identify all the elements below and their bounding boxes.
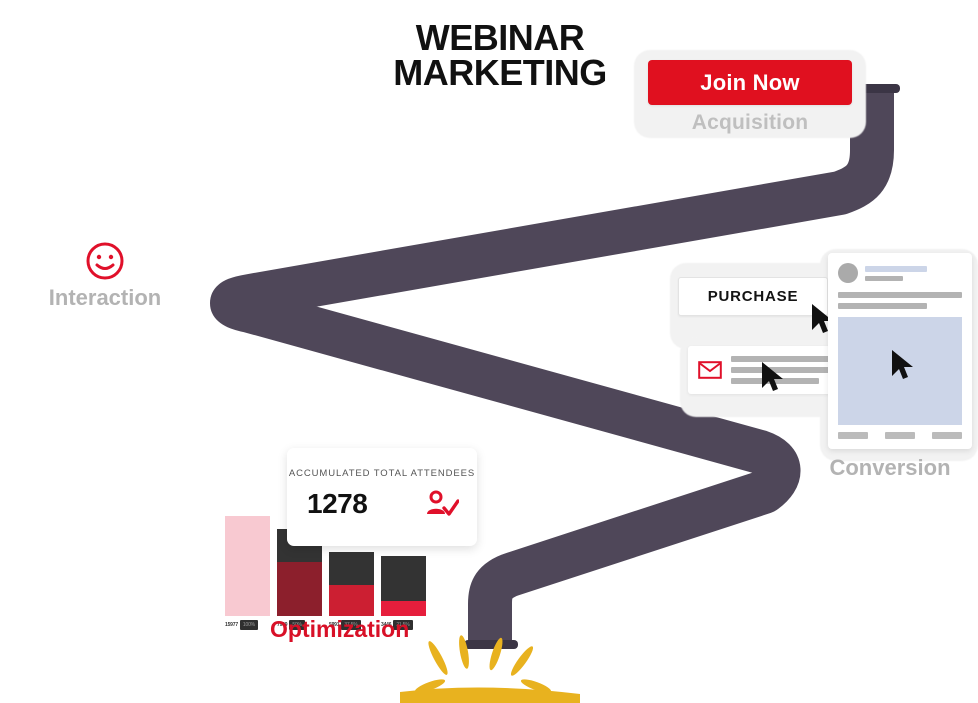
bar-column: 344621.5% xyxy=(381,556,426,616)
stage-interaction: Interaction xyxy=(30,240,180,311)
bar-segment-top xyxy=(329,552,374,585)
post-name-line xyxy=(865,266,927,272)
title-line-2: MARKETING xyxy=(376,55,624,90)
post-action-2[interactable] xyxy=(885,432,915,439)
title-line-1: WEBINAR xyxy=(376,20,624,55)
bar-segment-bottom xyxy=(329,585,374,616)
post-body-line-2 xyxy=(838,303,927,309)
bar-segment-top xyxy=(381,556,426,601)
post-name-lines xyxy=(865,266,927,281)
bar-column: 599137.5% xyxy=(329,552,374,616)
stage-conversion: PURCHASE xyxy=(660,245,978,490)
bar-legend: 15977100% xyxy=(225,620,258,630)
stage-optimization: 15977100%798950%599137.5%344621.5% ACCUM… xyxy=(225,448,525,658)
infographic-canvas: WEBINAR MARKETING Join Now Acquisition I… xyxy=(0,0,978,703)
post-body-line-1 xyxy=(838,292,962,298)
conversion-label: Conversion xyxy=(800,455,978,481)
attendees-card: ACCUMULATED TOTAL ATTENDEES 1278 xyxy=(287,448,477,546)
bar-value-label: 15977 xyxy=(225,622,238,628)
bar-column: 15977100% xyxy=(225,516,270,616)
acquisition-label: Acquisition xyxy=(634,111,866,135)
optimization-label: Optimization xyxy=(270,616,409,643)
envelope-icon xyxy=(698,361,722,379)
person-check-icon xyxy=(425,490,459,520)
bar xyxy=(329,552,374,616)
post-body-lines xyxy=(838,292,962,309)
bar-percent-badge: 100% xyxy=(240,620,258,630)
bar-segment-bottom xyxy=(277,562,322,616)
cursor-arrow-icon xyxy=(890,349,916,381)
post-media-thumbnail[interactable] xyxy=(838,317,962,425)
bar-segment-bottom xyxy=(381,601,426,616)
smiley-face-icon xyxy=(84,240,126,282)
post-action-1[interactable] xyxy=(838,432,868,439)
bar-segment-bottom xyxy=(225,516,270,616)
avatar-circle-icon xyxy=(838,263,858,283)
bar xyxy=(381,556,426,616)
attendees-card-title: ACCUMULATED TOTAL ATTENDEES xyxy=(287,468,477,479)
attendees-card-value: 1278 xyxy=(307,488,367,520)
purchase-button[interactable]: PURCHASE xyxy=(678,277,828,316)
post-footer xyxy=(838,432,962,439)
post-action-3[interactable] xyxy=(932,432,962,439)
cursor-arrow-icon xyxy=(760,361,786,393)
social-post-card[interactable] xyxy=(828,253,972,449)
post-meta-line xyxy=(865,276,903,281)
page-title: WEBINAR MARKETING xyxy=(376,20,624,91)
interaction-label: Interaction xyxy=(30,285,180,311)
bar xyxy=(225,516,270,616)
post-header xyxy=(838,263,962,283)
join-now-button[interactable]: Join Now xyxy=(648,60,852,105)
